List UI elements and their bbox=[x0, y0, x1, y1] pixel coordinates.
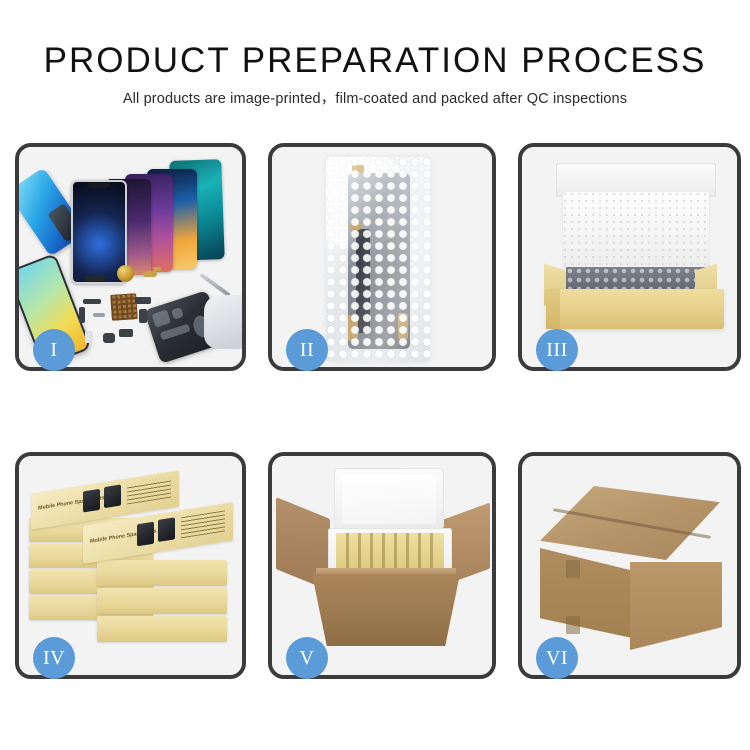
battery-connector-icon bbox=[85, 276, 105, 281]
step-badge-6: VI bbox=[536, 637, 578, 679]
plastic-sheen bbox=[326, 157, 430, 362]
step-badge-3: III bbox=[536, 329, 578, 371]
step-panel-1: I bbox=[15, 143, 246, 371]
kraft-box-stack-item bbox=[97, 616, 227, 642]
speaker-module-icon bbox=[135, 297, 151, 304]
step-panel-6: VI bbox=[518, 452, 741, 679]
carton-tape-upper-icon bbox=[566, 560, 580, 578]
camera-module-icon bbox=[117, 265, 134, 282]
hand-icon bbox=[204, 295, 242, 349]
page-header: PRODUCT PREPARATION PROCESS All products… bbox=[0, 0, 750, 108]
gold-contact-icon bbox=[143, 271, 157, 277]
step-panel-2: II bbox=[268, 143, 496, 371]
kraft-box-front-icon bbox=[546, 289, 724, 329]
bracket-icon bbox=[79, 307, 85, 323]
foam-sheet-icon bbox=[562, 191, 710, 269]
sim-tray-icon bbox=[85, 331, 93, 343]
screw-set-icon bbox=[110, 293, 138, 321]
page-title: PRODUCT PREPARATION PROCESS bbox=[0, 0, 750, 81]
yellow-boxes-icon bbox=[336, 533, 444, 573]
process-steps-grid: I II III bbox=[15, 143, 741, 679]
gold-pin-icon bbox=[153, 267, 161, 271]
kraft-box-stack-item bbox=[97, 588, 227, 614]
earpiece-icon bbox=[103, 333, 115, 343]
carton-left-face-icon bbox=[540, 548, 632, 638]
carton-tape-lower-icon bbox=[566, 616, 580, 634]
antenna-icon bbox=[119, 329, 133, 337]
step-panel-3: III bbox=[518, 143, 741, 371]
carton-body-icon bbox=[312, 574, 460, 646]
step-badge-2: II bbox=[286, 329, 328, 371]
kraft-box-stack-item bbox=[97, 560, 227, 586]
step-panel-5: V bbox=[268, 452, 496, 679]
step-badge-1: I bbox=[33, 329, 75, 371]
step-badge-5: V bbox=[286, 637, 328, 679]
bubble-wrap-bag-icon bbox=[326, 157, 430, 362]
step-badge-4: IV bbox=[33, 637, 75, 679]
page-subtitle: All products are image-printed，film-coat… bbox=[0, 81, 750, 108]
small-bracket-icon bbox=[93, 313, 105, 317]
flex-cable-icon bbox=[83, 299, 101, 304]
step-panel-4: Mobile Phone Spare Parts Mobile Phone Sp… bbox=[15, 452, 246, 679]
foam-case-lid-icon bbox=[334, 468, 444, 530]
carton-right-face-icon bbox=[630, 562, 722, 650]
vibrator-icon bbox=[139, 309, 147, 323]
